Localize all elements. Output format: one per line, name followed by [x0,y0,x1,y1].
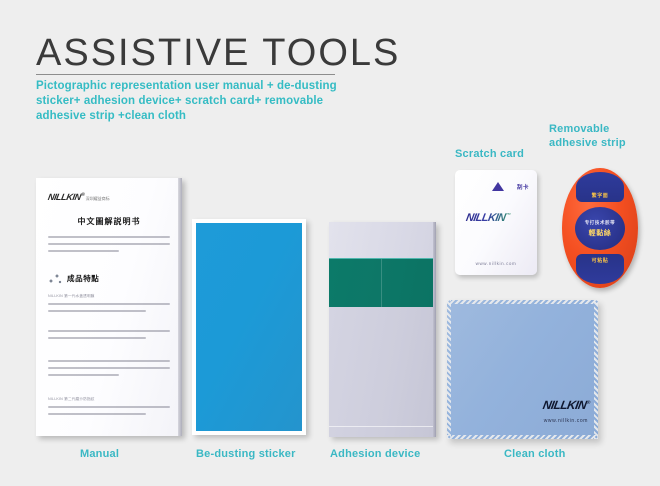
label-removable-adhesive-strip: Removable adhesive strip [549,122,641,150]
adhesion-device [329,222,436,437]
text-line [48,310,146,312]
label-scratch-card: Scratch card [455,147,524,161]
de-dusting-sticker [192,219,306,435]
cloth-edge-bottom [447,435,598,439]
text-line [48,413,146,415]
manual-paragraph-1 [48,236,170,257]
sticker-surface [196,223,302,431]
page-subtitle: Pictographic representation user manual … [36,79,366,124]
manual-brand-logo: NILLKIN®深圳耀益商标 [47,192,111,202]
scratch-card-brand-sup: ™ [505,212,510,218]
cloth-edge-left [447,300,451,439]
page-title: ASSISTIVE TOOLS [36,32,400,75]
caption-adhesion-device: Adhesion device [330,448,420,460]
cloth-url: www.nillkin.com [544,418,588,424]
cloth-brand-name: NILLKIN [542,398,588,412]
text-line [48,243,170,245]
manual-brand-name: NILLKIN [47,192,81,202]
manual-subnote-2: NILLKIN 第二代磨沙防指纹 [48,397,95,402]
cloth-brand-sup: ® [586,400,590,406]
text-line [48,337,146,339]
caption-clean-cloth: Clean cloth [504,448,566,460]
scratch-card-brand-name: NILLKIN [465,212,506,224]
adhesion-lower-panel [329,307,433,437]
strip-center-small-text: 专打技术胶带 [585,220,616,226]
strip-bottom-text: 可粘贴 [592,257,609,264]
adhesion-green-band [329,258,433,308]
manual-section-title: 成品特點 [67,273,99,284]
cloth-brand-logo: NILLKIN® [542,398,591,412]
text-line [48,330,170,332]
poster-canvas: ASSISTIVE TOOLS Pictographic representat… [0,0,660,486]
strip-bottom-label: 可粘贴 [576,254,624,284]
removable-adhesive-strip: 繁字面 专打技术胶带 輕黏絲 可粘贴 [562,168,638,288]
manual-brand-sup: ® [81,192,85,198]
manual-booklet: NILLKIN®深圳耀益商标 中文圖解説明书 成品特點 NILLKIN 第一代水… [36,178,182,436]
strip-center-big-text: 輕黏絲 [589,228,612,238]
caption-de-dusting-sticker: Be-dusting sticker [196,448,296,460]
cloth-edge-right [594,300,598,439]
cloth-edge-top [447,300,598,304]
text-line [48,367,170,369]
triangle-icon [492,182,504,191]
manual-paragraph-3 [48,330,170,344]
strip-top-label: 繁字面 [576,172,624,202]
scratch-card-cn-text: 刮卡 [517,183,529,191]
text-line [48,303,170,305]
text-line [48,406,170,408]
clean-cloth: NILLKIN® www.nillkin.com [447,300,598,439]
text-line [48,250,119,252]
manual-section-heading: 成品特點 [48,273,99,284]
sparkle-icon [48,273,62,284]
text-line [48,236,170,238]
manual-document-title: 中文圖解説明书 [36,216,182,227]
manual-subnote-1: NILLKIN 第一代水盖透明膜 [48,294,95,299]
scratch-card: 刮卡 NILLKIN™ www.nillkin.com [455,170,537,275]
manual-brand-cn: 深圳耀益商标 [86,196,110,202]
text-line [48,374,119,376]
caption-manual: Manual [80,448,119,460]
manual-paragraph-4 [48,360,170,381]
strip-top-text: 繁字面 [592,192,609,199]
manual-paragraph-2 [48,303,170,317]
manual-paragraph-5 [48,406,170,420]
scratch-card-brand-logo: NILLKIN™ [465,212,511,224]
strip-center-label: 专打技术胶带 輕黏絲 [575,207,625,250]
title-divider [36,74,335,75]
text-line [48,360,170,362]
scratch-card-url: www.nillkin.com [455,261,537,266]
